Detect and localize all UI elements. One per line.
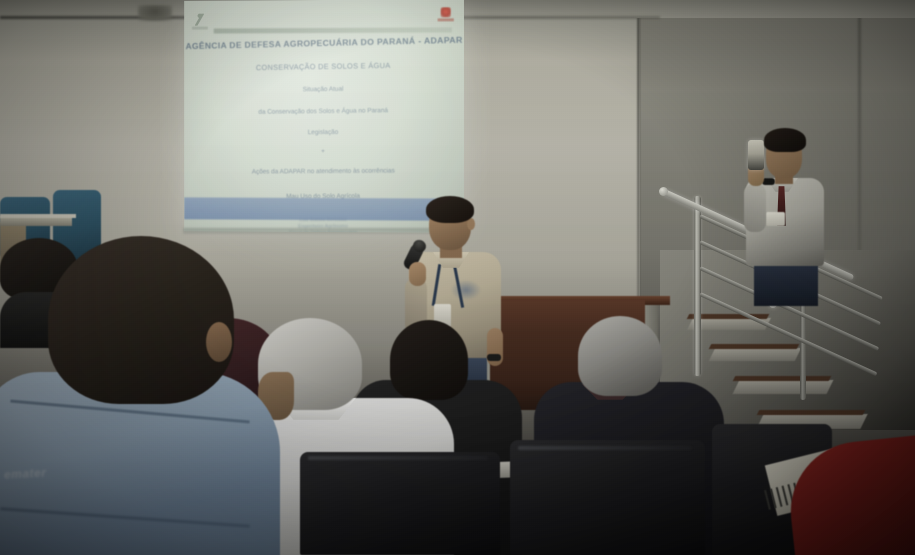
photographer-badge xyxy=(766,212,785,226)
photographer-trousers xyxy=(754,262,818,306)
photographer-hair xyxy=(764,128,806,152)
man-photographing-from-stairs xyxy=(740,128,832,303)
stair-nosing xyxy=(733,376,831,381)
presenter-right-sleeve xyxy=(481,262,507,334)
auditorium-seat-back xyxy=(300,452,500,555)
auditorium-seat-back xyxy=(510,440,705,555)
slide-line-1b: da Conservação dos Solos e Água no Paran… xyxy=(184,105,464,117)
seat-highlight xyxy=(518,446,692,450)
slide-title: AGÊNCIA DE DEFESA AGROPECUÁRIA DO PARANÁ… xyxy=(184,35,464,51)
slide-line-1a: Situação Atual xyxy=(184,83,464,96)
presenter-wristwatch xyxy=(487,354,501,361)
ceiling-fixture-icon xyxy=(138,5,172,21)
desk-edge xyxy=(0,214,76,218)
foreground-man-ear xyxy=(206,322,232,362)
foreground-man-head xyxy=(48,236,234,404)
stair-step xyxy=(733,380,834,394)
presenter-hand xyxy=(409,262,426,286)
presenter-hair xyxy=(426,196,474,223)
slide-header-rule xyxy=(214,27,452,33)
slide-plus-symbol: + xyxy=(184,148,464,156)
seat-highlight xyxy=(308,456,488,460)
photo-scene: AGÊNCIA DE DEFESA AGROPECUÁRIA DO PARANÁ… xyxy=(0,0,915,555)
photographer-arm xyxy=(744,184,766,232)
stair-nosing xyxy=(709,344,799,349)
mobile-phone-icon xyxy=(748,140,764,170)
railing-post xyxy=(694,196,701,376)
slide-line-2: Legislação xyxy=(184,127,464,137)
slide-line-3a: Ações da ADAPAR no atendimento às ocorrê… xyxy=(184,166,464,177)
stair-step xyxy=(709,348,801,361)
slide-heading: CONSERVAÇÃO DE SOLOS E ÁGUA xyxy=(184,60,464,74)
adapar-running-figure-logo-icon xyxy=(192,14,208,32)
dark-jacket-person-head xyxy=(390,320,468,400)
railing-end-cap xyxy=(659,187,668,196)
grey-haired-man-dark-suit-head xyxy=(578,316,662,396)
parana-government-logo-icon xyxy=(438,7,454,23)
stair-nosing xyxy=(757,410,865,415)
